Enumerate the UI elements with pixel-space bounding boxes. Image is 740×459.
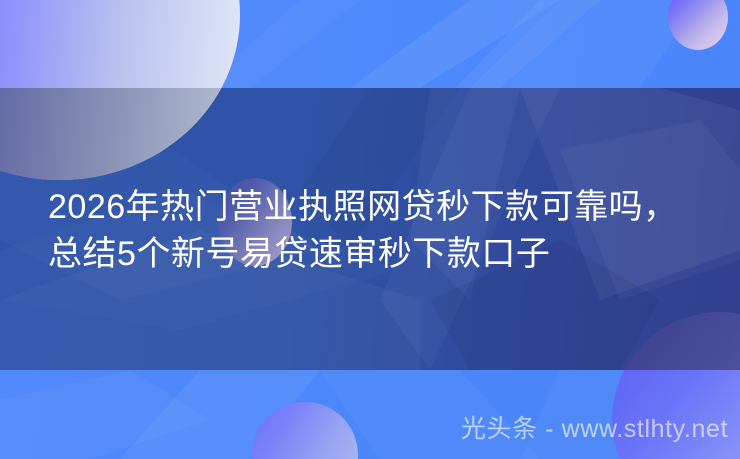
poster-headline: 2026年热门营业执照网贷秒下款可靠吗，总结5个新号易贷速审秒下款口子	[48, 184, 708, 278]
site-watermark: 光头条 - www.stlhty.net	[461, 409, 728, 445]
poster-canvas: 2026年热门营业执照网贷秒下款可靠吗，总结5个新号易贷速审秒下款口子 光头条 …	[0, 0, 740, 459]
